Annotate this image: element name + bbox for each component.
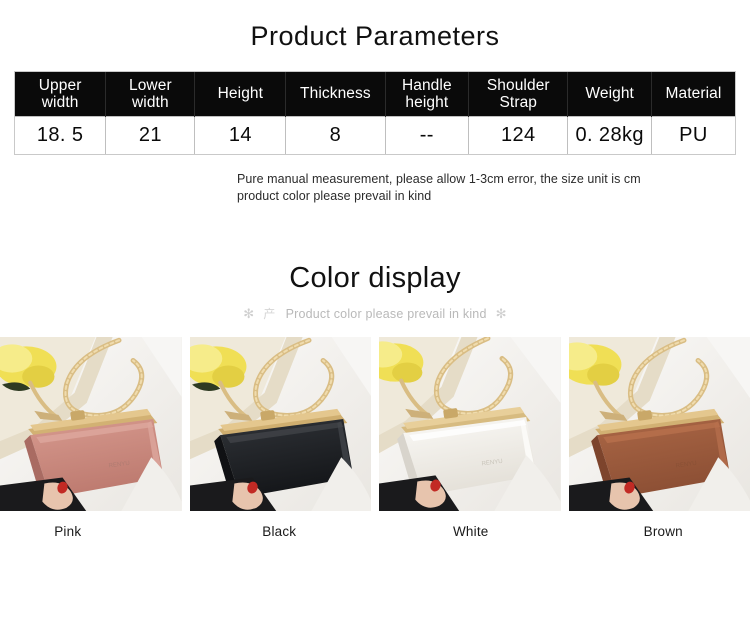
star-icon-left: ✻ <box>243 307 254 320</box>
measurement-note-line-2: product color please prevail in kind <box>237 188 740 205</box>
table-header-upper-width: Upper width <box>15 72 106 116</box>
color-display-subtitle-row: ✻ 产 Product color please prevail in kind… <box>0 307 750 321</box>
value-material: PU <box>651 116 735 154</box>
table-header-weight: Weight <box>568 72 652 116</box>
value-upper-width: 18. 5 <box>15 116 106 154</box>
parameters-table-body: 18. 5 21 14 8 -- 124 0. 28kg PU <box>15 116 735 154</box>
handbag-scene-illustration: RENYU <box>0 337 182 511</box>
decorative-mark-icon: 产 <box>263 308 275 320</box>
color-display-section: Color display ✻ 产 Product color please p… <box>0 261 750 539</box>
star-icon-right: ✻ <box>496 307 507 320</box>
value-lower-width: 21 <box>106 116 195 154</box>
table-header-handle-height: Handle height <box>385 72 469 116</box>
table-header-height: Height <box>195 72 286 116</box>
header-line-1: Material <box>666 85 722 102</box>
header-line-1: Shoulder <box>487 77 550 94</box>
product-photo-pink[interactable]: RENYU <box>0 337 182 511</box>
color-photo-grid: RENYU Pink <box>0 337 750 539</box>
value-height: 14 <box>195 116 286 154</box>
table-header-row: Upper width Lower width Height Thickness <box>15 72 735 116</box>
handbag-scene-illustration: RENYU <box>379 337 561 511</box>
color-display-subtitle: Product color please prevail in kind <box>286 307 487 321</box>
handbag-scene-illustration: RENYU <box>569 337 750 511</box>
parameters-table-container: Upper width Lower width Height Thickness <box>14 71 736 155</box>
value-shoulder-strap: 124 <box>469 116 568 154</box>
color-item-brown[interactable]: RENYU Brown <box>569 337 750 539</box>
color-label-black: Black <box>262 524 296 539</box>
value-thickness: 8 <box>286 116 385 154</box>
header-line-1: Handle <box>402 77 452 94</box>
header-line-1: Upper <box>39 77 82 94</box>
color-label-brown: Brown <box>644 524 683 539</box>
table-header-shoulder-strap: Shoulder Strap <box>469 72 568 116</box>
header-line-2: height <box>405 94 448 111</box>
value-handle-height: -- <box>385 116 469 154</box>
header-line-1: Thickness <box>300 85 371 102</box>
header-line-2: width <box>42 94 79 111</box>
product-photo-brown[interactable]: RENYU <box>569 337 750 511</box>
color-label-white: White <box>453 524 489 539</box>
measurement-note: Pure manual measurement, please allow 1-… <box>0 171 750 205</box>
table-header-thickness: Thickness <box>286 72 385 116</box>
header-line-1: Height <box>218 85 263 102</box>
color-display-title: Color display <box>0 261 750 296</box>
value-weight: 0. 28kg <box>568 116 652 154</box>
product-parameters-section: Product Parameters Upper width Lower wid… <box>0 0 750 205</box>
header-line-2: Strap <box>499 94 537 111</box>
color-label-pink: Pink <box>54 524 81 539</box>
measurement-note-line-1: Pure manual measurement, please allow 1-… <box>237 171 740 188</box>
header-line-1: Lower <box>129 77 172 94</box>
product-photo-black[interactable] <box>190 337 372 511</box>
product-photo-white[interactable]: RENYU <box>379 337 561 511</box>
parameters-table: Upper width Lower width Height Thickness <box>15 72 735 154</box>
handbag-scene-illustration <box>190 337 372 511</box>
table-header-lower-width: Lower width <box>106 72 195 116</box>
color-item-pink[interactable]: RENYU Pink <box>0 337 182 539</box>
color-item-black[interactable]: Black <box>190 337 372 539</box>
color-item-white[interactable]: RENYU White <box>379 337 561 539</box>
table-row: 18. 5 21 14 8 -- 124 0. 28kg PU <box>15 116 735 154</box>
table-header-material: Material <box>651 72 735 116</box>
page-title: Product Parameters <box>0 0 750 52</box>
parameters-table-head: Upper width Lower width Height Thickness <box>15 72 735 116</box>
header-line-2: width <box>132 94 169 111</box>
header-line-1: Weight <box>585 85 634 102</box>
